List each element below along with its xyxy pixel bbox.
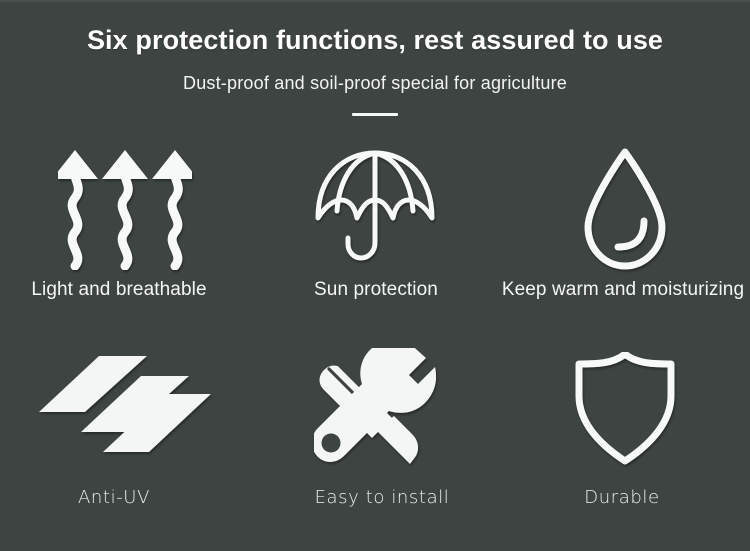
umbrella-icon	[314, 143, 436, 275]
feature-label: Light and breathable	[31, 279, 206, 301]
banner-header: Six protection functions, rest assured t…	[0, 0, 750, 116]
feature-card-anti-uv: Anti-UV	[0, 343, 250, 543]
layered-sheets-icon	[37, 343, 213, 475]
feature-card-durable: Durable	[500, 343, 750, 543]
page-title: Six protection functions, rest assured t…	[0, 0, 750, 56]
feature-card-keep-warm-and-moisturizing: Keep warm and moisturizing	[500, 143, 750, 343]
feature-card-sun-protection: Sun protection	[250, 143, 500, 343]
shield-icon	[573, 343, 677, 475]
wrench-screwdriver-icon	[314, 343, 436, 475]
feature-label: Easy to install	[315, 487, 450, 508]
breathable-arrows-icon	[58, 143, 192, 275]
feature-label: Keep warm and moisturizing	[502, 279, 744, 301]
feature-banner: Six protection functions, rest assured t…	[0, 0, 750, 551]
water-drop-icon	[583, 143, 667, 275]
header-divider	[352, 113, 398, 116]
feature-card-light-and-breathable: Light and breathable	[0, 143, 250, 343]
feature-label: Sun protection	[314, 279, 438, 301]
feature-grid: Light and breathable Sun protection	[0, 143, 750, 543]
page-subtitle: Dust-proof and soil-proof special for ag…	[0, 56, 750, 94]
feature-card-easy-to-install: Easy to install	[250, 343, 500, 543]
feature-label: Anti-UV	[78, 487, 150, 508]
feature-label: Durable	[584, 487, 659, 508]
